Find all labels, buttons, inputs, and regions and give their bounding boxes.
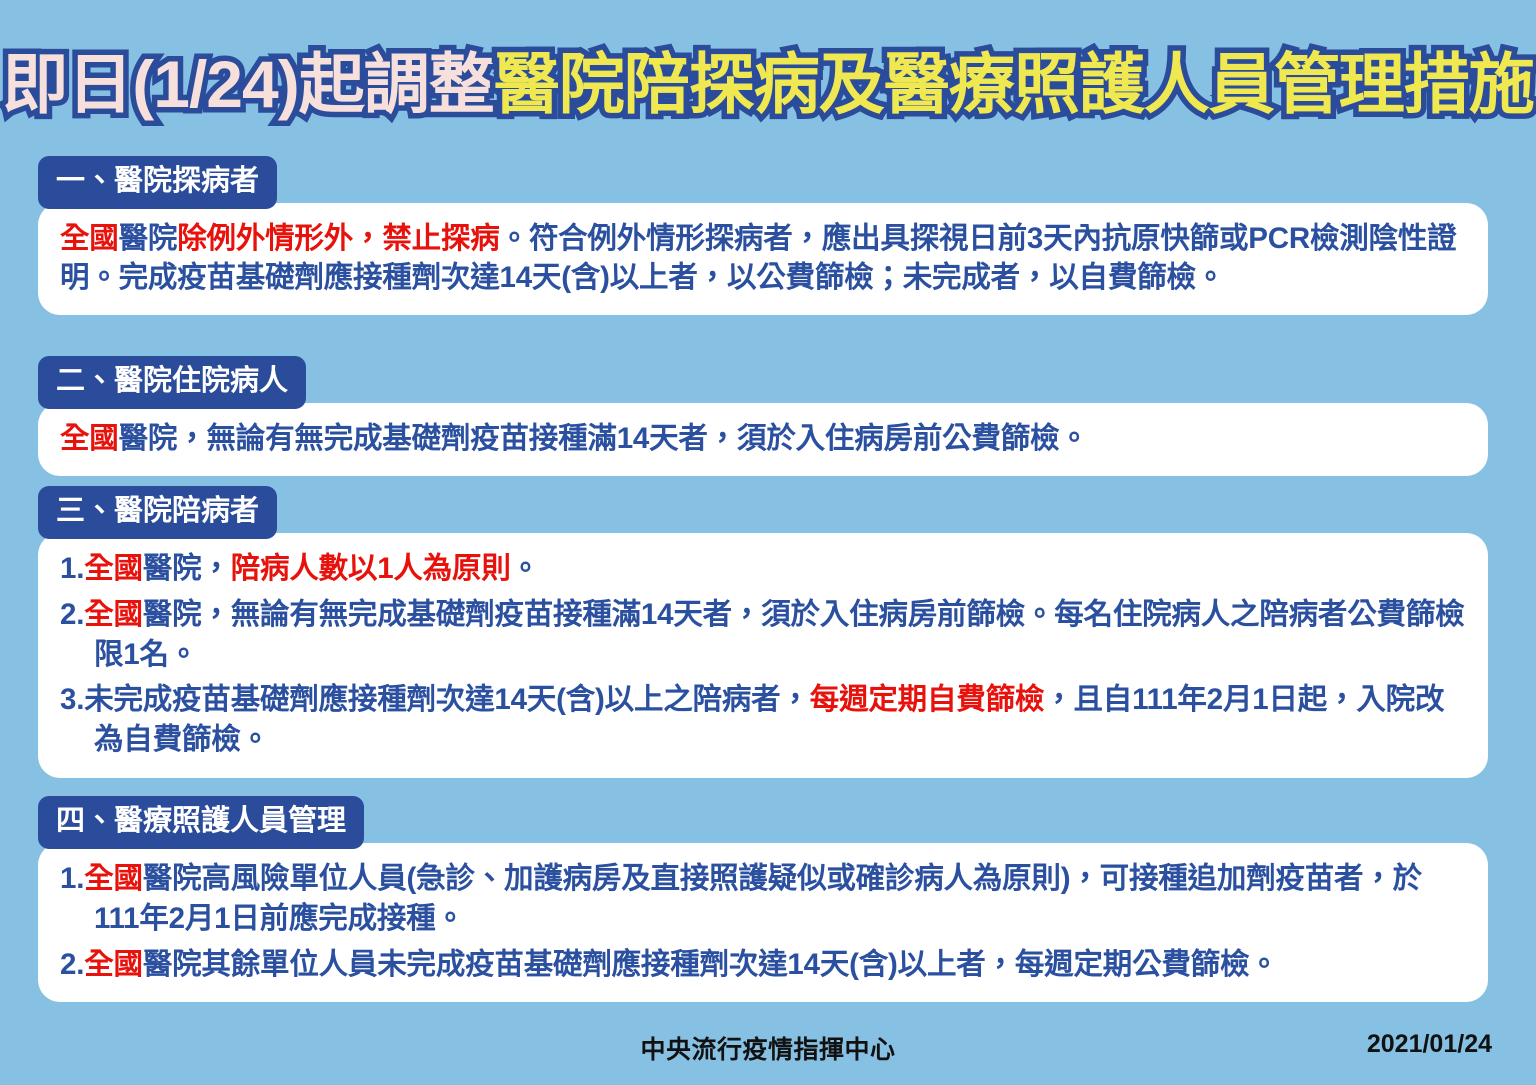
list-item: 1.全國醫院，陪病人數以1人為原則。 [60, 549, 1466, 589]
text-run: 每週定期自費篩檢 [810, 683, 1044, 716]
section-2-paragraph: 全國醫院，無論有無完成基礎劑疫苗接種滿14天者，須於入住病房前公費篩檢。 [60, 419, 1466, 458]
text-run: 醫院，無論有無完成基礎劑疫苗接種滿14天者，須於入住病房前公費篩檢。 [119, 422, 1089, 455]
text-run: 醫院其餘單位人員未完成疫苗基礎劑應接種劑次達14天(含)以上者，每週定期公費篩檢… [143, 948, 1279, 981]
footer: 中央流行疫情指揮中心 2021/01/24 [0, 1030, 1536, 1074]
section-card-2: 全國醫院，無論有無完成基礎劑疫苗接種滿14天者，須於入住病房前公費篩檢。 [38, 403, 1488, 476]
text-run: 醫院 [119, 222, 178, 255]
text-run: 全國 [60, 422, 119, 455]
list-item: 1.全國醫院高風險單位人員(急診、加護病房及直接照護疑似或確診病人為原則)，可接… [60, 859, 1466, 939]
section-healthcare-staff: 四、醫療照護人員管理 1.全國醫院高風險單位人員(急診、加護病房及直接照護疑似或… [38, 796, 1488, 1002]
text-run: 未完成疫苗基礎劑應接種劑次達14天(含)以上之陪病者， [84, 683, 810, 716]
page-title-text: 即日(1/24)起調整醫院陪探病及醫療照護人員管理措施 [2, 51, 1533, 117]
list-item-number: 1. [60, 862, 84, 895]
list-item: 2.全國醫院其餘單位人員未完成疫苗基礎劑應接種劑次達14天(含)以上者，每週定期… [60, 945, 1466, 985]
footer-date: 2021/01/24 [1367, 1030, 1492, 1059]
section-hospital-visitors: 一、醫院探病者 全國醫院除例外情形外，禁止探病。符合例外情形探病者，應出具探視日… [38, 156, 1488, 315]
section-companions: 三、醫院陪病者 1.全國醫院，陪病人數以1人為原則。 2.全國醫院，無論有無完成… [38, 486, 1488, 778]
text-run: 陪病人數以1人為原則 [231, 552, 511, 585]
section-badge-1: 一、醫院探病者 [38, 156, 277, 209]
section-inpatients: 二、醫院住院病人 全國醫院，無論有無完成基礎劑疫苗接種滿14天者，須於入住病房前… [38, 356, 1488, 476]
section-card-4: 1.全國醫院高風險單位人員(急診、加護病房及直接照護疑似或確診病人為原則)，可接… [38, 843, 1488, 1002]
list-item-number: 3. [60, 683, 84, 716]
text-run: 醫院，無論有無完成基礎劑疫苗接種滿14天者，須於入住病房前篩檢。每名住院病人之陪… [94, 598, 1464, 671]
text-run: 醫院， [143, 552, 231, 585]
text-run: 全國 [60, 222, 119, 255]
page-title-lead: 即日(1/24)起調整 [2, 47, 493, 121]
section-badge-2: 二、醫院住院病人 [38, 356, 306, 409]
section-badge-3: 三、醫院陪病者 [38, 486, 277, 539]
list-item: 2.全國醫院，無論有無完成基礎劑疫苗接種滿14天者，須於入住病房前篩檢。每名住院… [60, 595, 1466, 675]
list-item-number: 2. [60, 598, 84, 631]
text-run: 除例外情形外，禁止探病 [177, 222, 499, 255]
text-run: 全國 [84, 598, 143, 631]
list-item: 3.未完成疫苗基礎劑應接種劑次達14天(含)以上之陪病者，每週定期自費篩檢，且自… [60, 680, 1466, 760]
page-title: 即日(1/24)起調整醫院陪探病及醫療照護人員管理措施 [0, 36, 1536, 132]
text-run: 全國 [84, 862, 143, 895]
page-title-highlight: 醫院陪探病及醫療照護人員管理措施 [494, 47, 1534, 121]
list-item-number: 2. [60, 948, 84, 981]
text-run: 。 [511, 552, 540, 585]
section-card-3: 1.全國醫院，陪病人數以1人為原則。 2.全國醫院，無論有無完成基礎劑疫苗接種滿… [38, 533, 1488, 778]
section-1-paragraph: 全國醫院除例外情形外，禁止探病。符合例外情形探病者，應出具探視日前3天內抗原快篩… [60, 219, 1466, 297]
section-badge-4: 四、醫療照護人員管理 [38, 796, 364, 849]
section-card-1: 全國醫院除例外情形外，禁止探病。符合例外情形探病者，應出具探視日前3天內抗原快篩… [38, 203, 1488, 315]
footer-organization: 中央流行疫情指揮中心 [0, 1030, 1536, 1066]
text-run: 全國 [84, 948, 143, 981]
text-run: 醫院高風險單位人員(急診、加護病房及直接照護疑似或確診病人為原則)，可接種追加劑… [94, 862, 1422, 935]
list-item-number: 1. [60, 552, 84, 585]
text-run: 全國 [84, 552, 143, 585]
